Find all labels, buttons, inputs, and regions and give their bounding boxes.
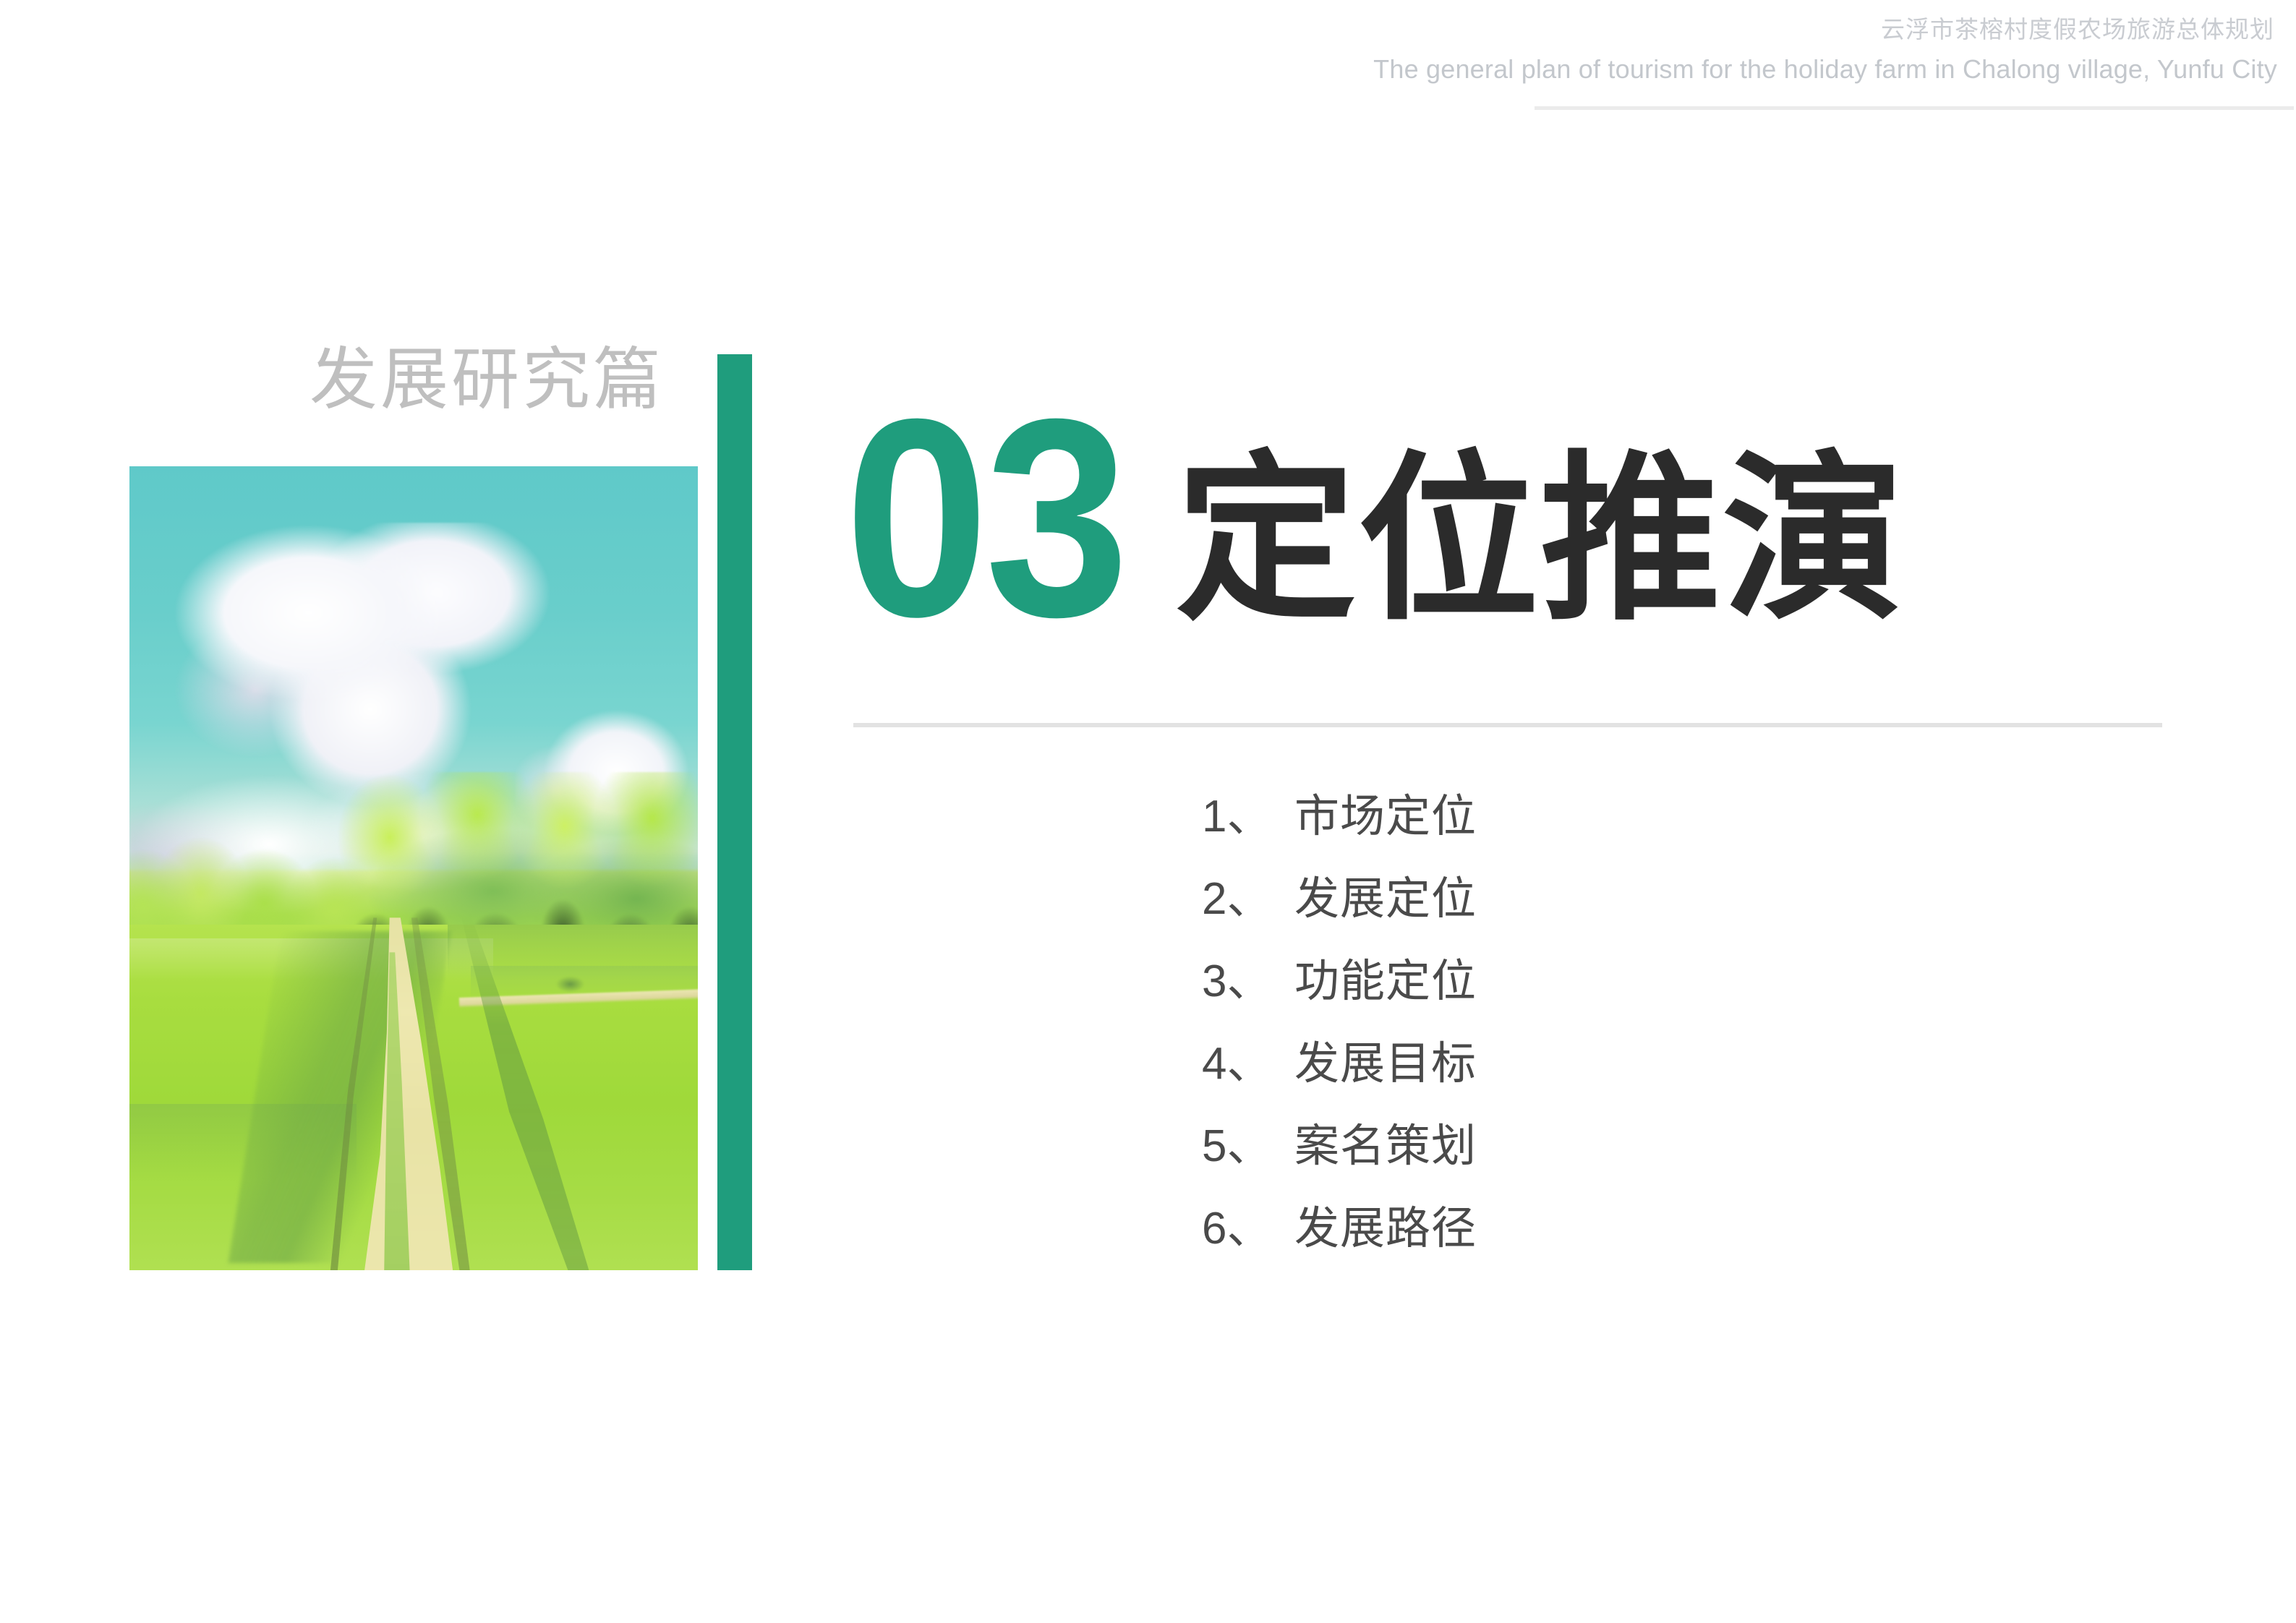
header-title-en: The general plan of tourism for the holi… — [1373, 54, 2277, 85]
agenda-list: 1、 市场定位 2、 发展定位 3、 功能定位 4、 发展目标 5、 案名策划 … — [1202, 776, 1853, 1270]
list-item[interactable]: 5、 案名策划 — [1202, 1105, 1853, 1188]
list-item-label: 发展目标 — [1294, 1023, 1477, 1105]
header-title-cn: 云浮市茶榕村度假农场旅游总体规划 — [1881, 10, 2274, 45]
list-item-label: 功能定位 — [1294, 941, 1477, 1023]
list-item-label: 案名策划 — [1294, 1105, 1477, 1188]
tree-icon — [550, 973, 590, 994]
rice-fields — [129, 925, 698, 1270]
list-item[interactable]: 1、 市场定位 — [1202, 776, 1853, 858]
slide-root: 云浮市茶榕村度假农场旅游总体规划 The general plan of tou… — [0, 0, 2296, 1623]
list-item-number: 2、 — [1202, 858, 1294, 941]
list-item[interactable]: 3、 功能定位 — [1202, 941, 1853, 1023]
landscape-photo — [129, 466, 698, 1270]
list-item-number: 4、 — [1202, 1023, 1294, 1105]
header-divider — [1535, 106, 2294, 110]
slide-header: 云浮市茶榕村度假农场旅游总体规划 The general plan of tou… — [0, 0, 2296, 116]
section-kicker-label: 发展研究篇 — [310, 346, 664, 414]
list-item-number: 5、 — [1202, 1105, 1294, 1188]
list-item[interactable]: 6、 发展路径 — [1202, 1188, 1853, 1270]
list-item-number: 1、 — [1202, 776, 1294, 858]
photo-sky — [129, 466, 698, 1270]
title-divider — [853, 723, 2162, 727]
list-item[interactable]: 4、 发展目标 — [1202, 1023, 1853, 1105]
list-item-label: 发展路径 — [1294, 1188, 1477, 1270]
accent-bar — [717, 354, 752, 1270]
list-item-number: 3、 — [1202, 941, 1294, 1023]
list-item-label: 市场定位 — [1294, 776, 1477, 858]
page-title: 定位推演 — [1176, 450, 1905, 630]
list-item-label: 发展定位 — [1294, 858, 1477, 941]
list-item[interactable]: 2、 发展定位 — [1202, 858, 1853, 941]
list-item-number: 6、 — [1202, 1188, 1294, 1270]
section-title-row: 03 定位推演 — [845, 394, 1905, 643]
section-number: 03 — [845, 394, 1125, 642]
